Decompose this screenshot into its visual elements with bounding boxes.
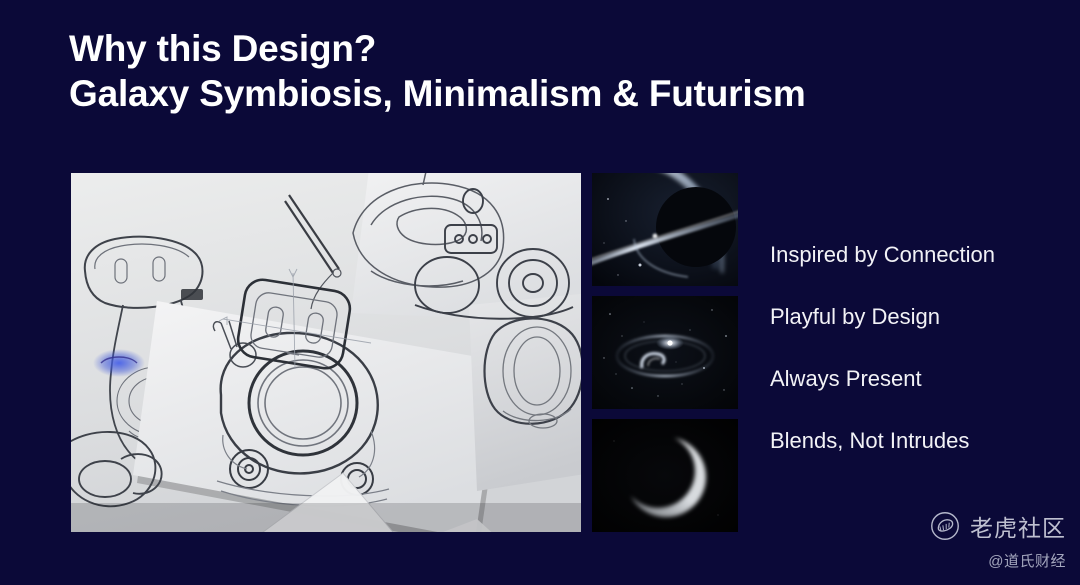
watermark-brand-row: 老虎社区 (930, 509, 1066, 543)
black-hole-graphic (592, 173, 738, 286)
watermark: 老虎社区 @道氏财经 (930, 509, 1066, 571)
title-line-primary: Why this Design? (69, 27, 889, 71)
galaxy-ring-graphic (592, 296, 738, 409)
tiger-circle-icon (930, 511, 960, 541)
galaxy-ring-thumbnail (592, 296, 738, 409)
slide-canvas: Why this Design? Galaxy Symbiosis, Minim… (0, 0, 1080, 585)
crescent-moon-graphic (592, 419, 738, 532)
feature-label-playful-by-design: Playful by Design (770, 304, 1070, 330)
watermark-brand-text: 老虎社区 (970, 509, 1066, 543)
feature-label-inspired-by-connection: Inspired by Connection (770, 242, 1070, 268)
crescent-moon-thumbnail (592, 419, 738, 532)
watermark-handle-text: @道氏财经 (930, 550, 1066, 571)
black-hole-thumbnail (592, 173, 738, 286)
feature-label-always-present: Always Present (770, 366, 1070, 392)
feature-label-list: Inspired by Connection Playful by Design… (770, 242, 1070, 454)
space-thumbnail-column (592, 173, 738, 532)
feature-label-blends-not-intrudes: Blends, Not Intrudes (770, 428, 1070, 454)
title-line-secondary: Galaxy Symbiosis, Minimalism & Futurism (69, 71, 889, 117)
page-title: Why this Design? Galaxy Symbiosis, Minim… (69, 27, 889, 117)
sketch-illustration (71, 173, 581, 532)
concept-sketch-image (71, 173, 581, 532)
